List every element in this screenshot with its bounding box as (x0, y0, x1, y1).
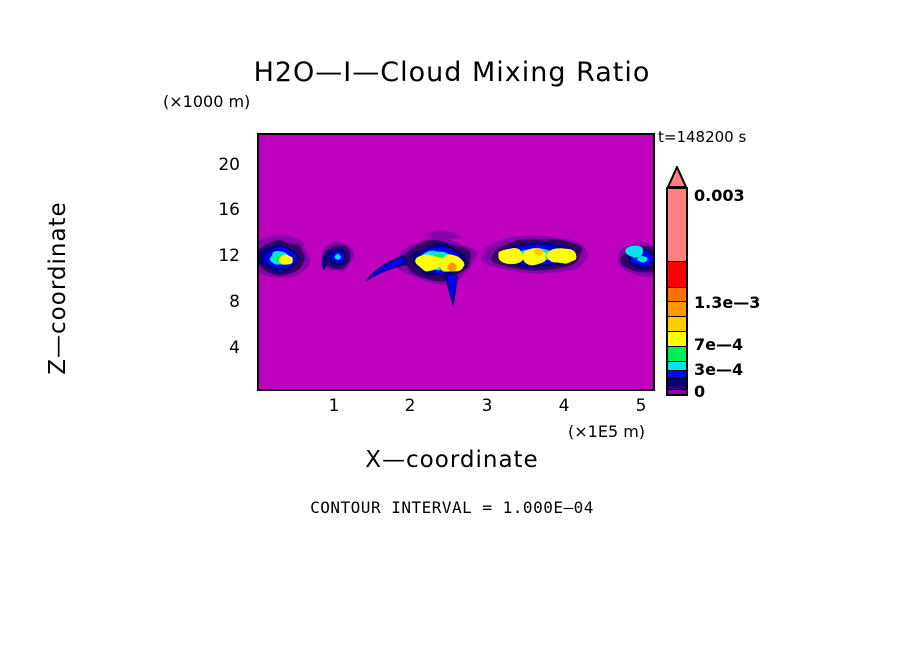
contour-field (259, 135, 653, 389)
contour-plot-area (257, 133, 655, 391)
colorbar-band (668, 332, 686, 347)
y-tick-label: 20 (200, 155, 240, 175)
colorbar-arrow-icon (665, 166, 689, 188)
x-axis-title: X—coordinate (0, 447, 904, 473)
colorbar-label-1p3e3: 1.3e—3 (694, 293, 760, 312)
colorbar-band (668, 347, 686, 362)
colorbar-label-7e4: 7e—4 (694, 335, 743, 354)
x-tick-label: 4 (549, 396, 579, 416)
colorbar-band (668, 262, 686, 287)
colorbar-band (668, 371, 686, 379)
x-tick-label: 2 (395, 396, 425, 416)
y-tick-label: 8 (200, 292, 240, 312)
colorbar-label-min: 0 (694, 382, 705, 401)
y-axis-title: Z—coordinate (45, 168, 71, 408)
colorbar-band (668, 390, 686, 394)
x-tick-label: 5 (626, 396, 656, 416)
colorbar-label-max: 0.003 (694, 186, 745, 205)
y-tick-label: 4 (200, 338, 240, 358)
colorbar-band (668, 302, 686, 317)
page-title: H2O—I—Cloud Mixing Ratio (0, 57, 904, 88)
colorbar-band (668, 362, 686, 370)
x-tick-label: 3 (472, 396, 502, 416)
y-axis-unit: (×1000 m) (163, 92, 250, 111)
colorbar-band (668, 189, 686, 262)
x-axis-unit: (×1E5 m) (568, 422, 645, 441)
contour-interval-note: CONTOUR INTERVAL = 1.000E—04 (0, 498, 904, 517)
y-tick-label: 16 (200, 200, 240, 220)
y-tick-label: 12 (200, 246, 240, 266)
colorbar-label-3e4: 3e—4 (694, 360, 743, 379)
colorbar-band (668, 317, 686, 332)
time-stamp: t=148200 s (658, 128, 746, 146)
colorbar-band (668, 288, 686, 303)
x-tick-label: 1 (319, 396, 349, 416)
colorbar (666, 187, 688, 396)
